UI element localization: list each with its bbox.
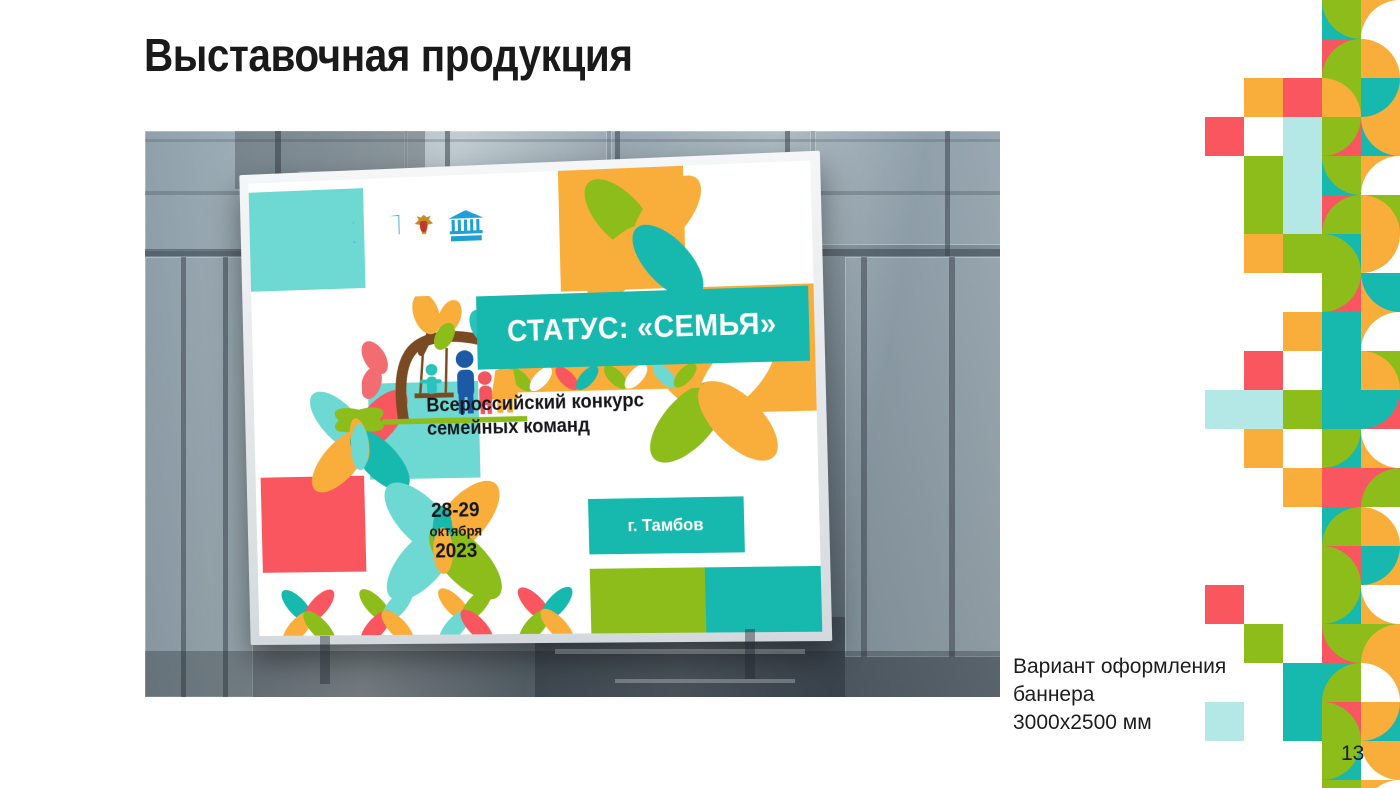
pattern-cell — [1244, 390, 1283, 429]
banner-status-title-text: СТАТУС: «СЕМЬЯ» — [507, 306, 777, 349]
pattern-cell — [1283, 468, 1322, 507]
banner-board: СТАТУС: «СЕМЬЯ» Всероссийский конкурс се… — [239, 151, 832, 645]
pattern-cell — [1283, 117, 1322, 156]
pattern-cell — [1244, 429, 1283, 468]
pattern-cell — [1244, 195, 1283, 234]
pattern-cell — [1322, 468, 1361, 507]
banner-city: г. Тамбов — [588, 496, 744, 554]
vertical-column — [945, 131, 950, 256]
banner-status-title: СТАТУС: «СЕМЬЯ» — [476, 285, 809, 369]
pattern-cell — [1205, 585, 1244, 624]
glass-wall-left — [145, 257, 253, 697]
banner-city-text: г. Тамбов — [628, 515, 704, 537]
pattern-cell — [1244, 234, 1283, 273]
banner-logos — [352, 196, 559, 254]
pattern-petal — [1322, 780, 1361, 788]
pattern-cell — [1205, 117, 1244, 156]
page-title: Выставочная продукция — [144, 28, 633, 82]
vertical-mullion — [949, 257, 955, 657]
light-bar — [615, 679, 795, 683]
banner-contest-title: Всероссийский конкурс семейных команд — [426, 388, 679, 441]
board-support-post — [320, 636, 330, 684]
ribbon-logo-icon — [353, 215, 400, 243]
pattern-cell — [1244, 351, 1283, 390]
caption-line-1: Вариант оформления — [1013, 653, 1313, 681]
caption-line-2: баннера — [1013, 681, 1313, 709]
slide-root: Выставочная продукция — [0, 0, 1400, 788]
pattern-cell — [1283, 78, 1322, 117]
tambov-museum-icon — [448, 209, 484, 241]
pattern-cell — [1283, 195, 1322, 234]
pattern-cell — [1283, 312, 1322, 351]
banner-artwork: СТАТУС: «СЕМЬЯ» Всероссийский конкурс се… — [248, 160, 822, 636]
russia-coat-of-arms-icon — [412, 212, 435, 241]
vertical-mullion — [223, 257, 228, 697]
banner-date-day: 28-29 — [428, 499, 481, 524]
banner-date-month: октября — [429, 523, 482, 541]
pattern-cell — [1283, 156, 1322, 195]
pattern-cell — [1283, 234, 1322, 273]
vertical-mullion — [861, 257, 867, 657]
pattern-cell — [1283, 390, 1322, 429]
banner-date-year: 2023 — [429, 539, 482, 564]
page-number: 13 — [1341, 742, 1364, 766]
pattern-cell — [1322, 390, 1361, 429]
glass-wall-right — [845, 257, 1000, 657]
banner-frame: СТАТУС: «СЕМЬЯ» Всероссийский конкурс се… — [239, 151, 832, 645]
pattern-cell — [1244, 78, 1283, 117]
board-support-post — [745, 629, 755, 679]
glass-panel — [815, 131, 1000, 245]
pattern-cell — [1205, 390, 1244, 429]
vertical-mullion — [181, 257, 186, 697]
caption-block: Вариант оформления баннера 3000х2500 мм — [1013, 653, 1313, 737]
caption-line-3: 3000х2500 мм — [1013, 709, 1313, 737]
pattern-cell — [1322, 351, 1361, 390]
banner-dates: 28-29 октября 2023 — [428, 499, 482, 565]
pattern-cell — [1244, 156, 1283, 195]
banner-mockup-photo: СТАТУС: «СЕМЬЯ» Всероссийский конкурс се… — [145, 131, 1000, 697]
pattern-cell — [1322, 312, 1361, 351]
light-bar — [555, 649, 805, 654]
